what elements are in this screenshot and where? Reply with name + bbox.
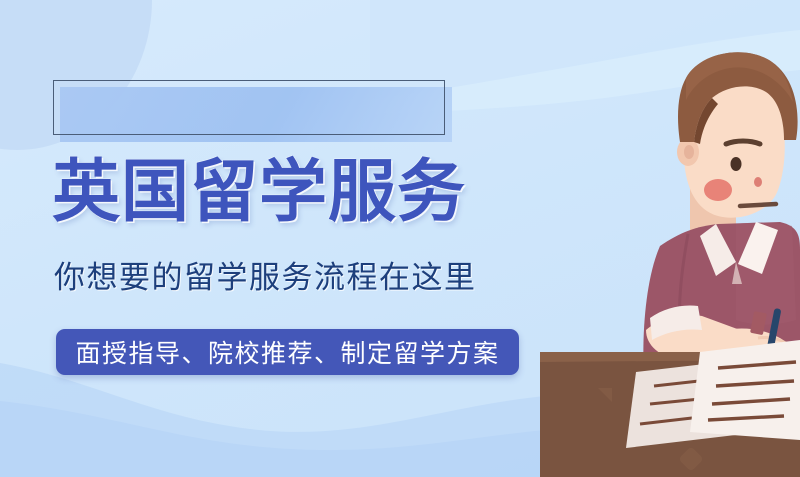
page-subtitle: 你想要的留学服务流程在这里 <box>54 262 477 293</box>
cta-button[interactable]: 面授指导、院校推荐、制定留学方案 <box>56 329 519 375</box>
promo-banner: 英国留学服务 你想要的留学服务流程在这里 面授指导、院校推荐、制定留学方案 <box>0 0 800 477</box>
page-title: 英国留学服务 <box>52 158 466 226</box>
cta-button-label: 面授指导、院校推荐、制定留学方案 <box>75 334 499 370</box>
banner-text-content: 英国留学服务 你想要的留学服务流程在这里 面授指导、院校推荐、制定留学方案 <box>0 0 800 477</box>
